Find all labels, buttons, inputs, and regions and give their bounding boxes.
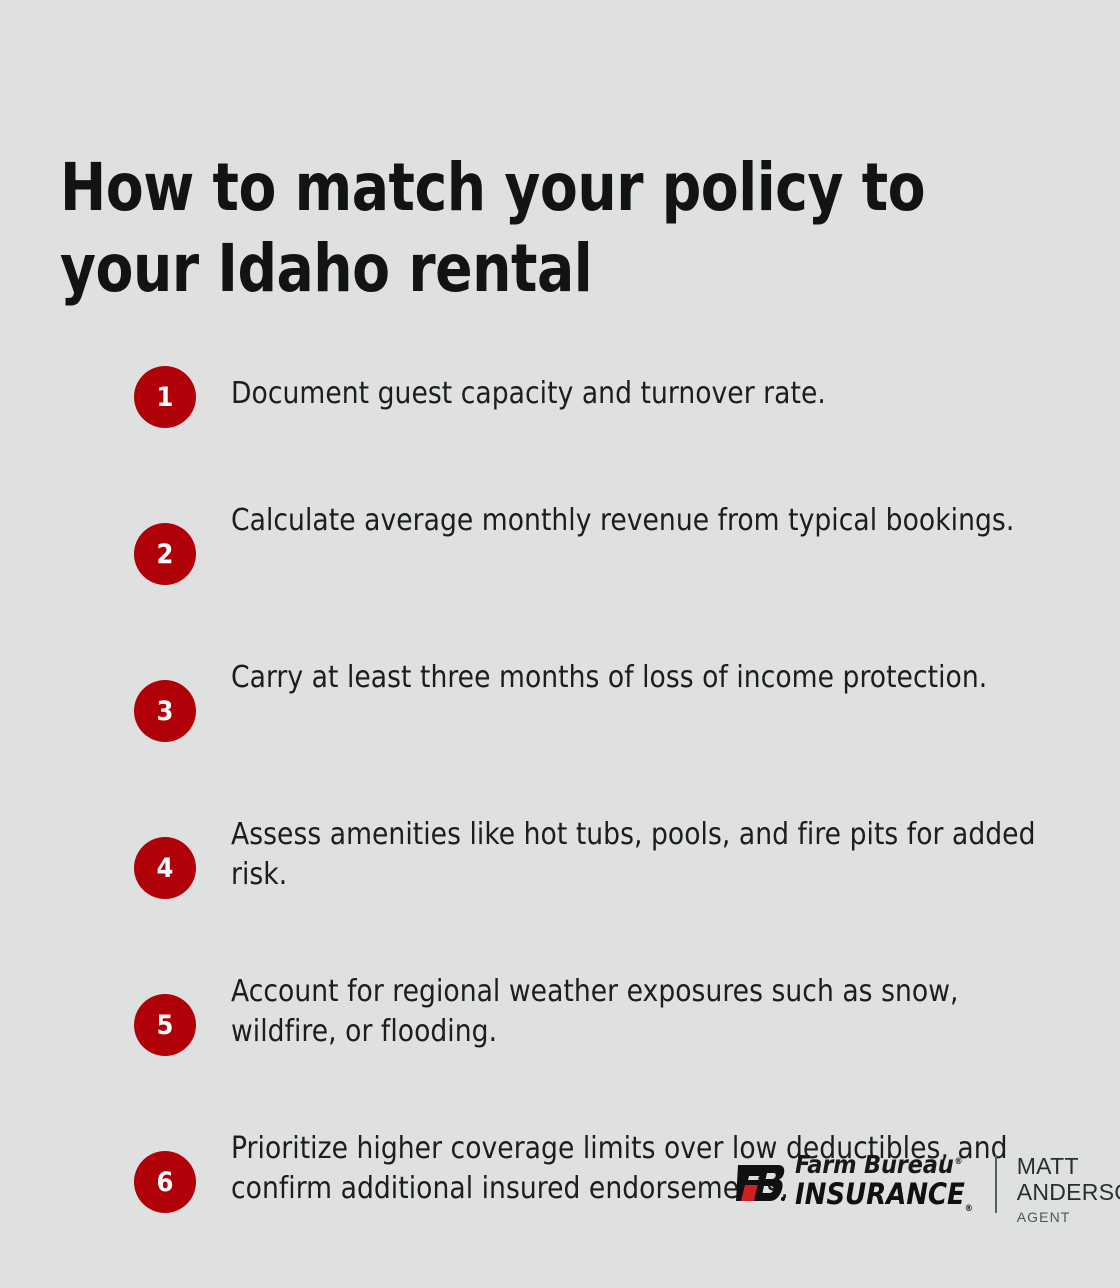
agent-name-last: ANDERSON (1017, 1180, 1120, 1206)
step-number-badge: 1 (134, 366, 196, 428)
registered-trademark-icon-small: ® (965, 1204, 973, 1214)
step-number-badge: 6 (134, 1151, 196, 1213)
list-item: 4 Assess amenities like hot tubs, pools,… (134, 808, 1054, 899)
list-item: 5 Account for regional weather exposures… (134, 965, 1054, 1056)
footer-logo-lockup: Farm Bureau® INSURANCE® MATT ANDERSON AG… (736, 1152, 1120, 1225)
logo-farm-bureau-text: Farm Bureau (795, 1150, 954, 1179)
agent-info: MATT ANDERSON AGENT (1017, 1152, 1120, 1225)
agent-name-first: MATT (1017, 1154, 1120, 1180)
page-title: How to match your policy to your Idaho r… (60, 148, 953, 309)
fb-monogram-icon (736, 1159, 786, 1207)
logo-insurance-text: INSURANCE (795, 1177, 965, 1211)
logo-line-farm-bureau: Farm Bureau® (795, 1152, 973, 1177)
step-text: Assess amenities like hot tubs, pools, a… (231, 808, 1042, 894)
logo-wordmark: Farm Bureau® INSURANCE® (795, 1152, 973, 1214)
step-number-badge: 4 (134, 837, 196, 899)
steps-list: 1 Document guest capacity and turnover r… (134, 366, 1054, 1213)
step-text: Calculate average monthly revenue from t… (231, 494, 1042, 541)
list-item: 2 Calculate average monthly revenue from… (134, 494, 1054, 585)
poster-canvas: How to match your policy to your Idaho r… (0, 0, 1120, 1288)
agent-role-label: AGENT (1017, 1209, 1120, 1226)
step-number-badge: 3 (134, 680, 196, 742)
step-text: Account for regional weather exposures s… (231, 965, 1042, 1051)
logo-divider (995, 1155, 997, 1213)
logo-line-insurance: INSURANCE® (795, 1180, 973, 1214)
step-text: Carry at least three months of loss of i… (231, 651, 1042, 698)
step-text: Document guest capacity and turnover rat… (231, 366, 1042, 414)
list-item: 3 Carry at least three months of loss of… (134, 651, 1054, 742)
registered-trademark-icon: ® (955, 1157, 963, 1167)
step-number-badge: 2 (134, 523, 196, 585)
farm-bureau-insurance-logo: Farm Bureau® INSURANCE® (736, 1152, 973, 1214)
list-item: 1 Document guest capacity and turnover r… (134, 366, 1054, 428)
step-number-badge: 5 (134, 994, 196, 1056)
